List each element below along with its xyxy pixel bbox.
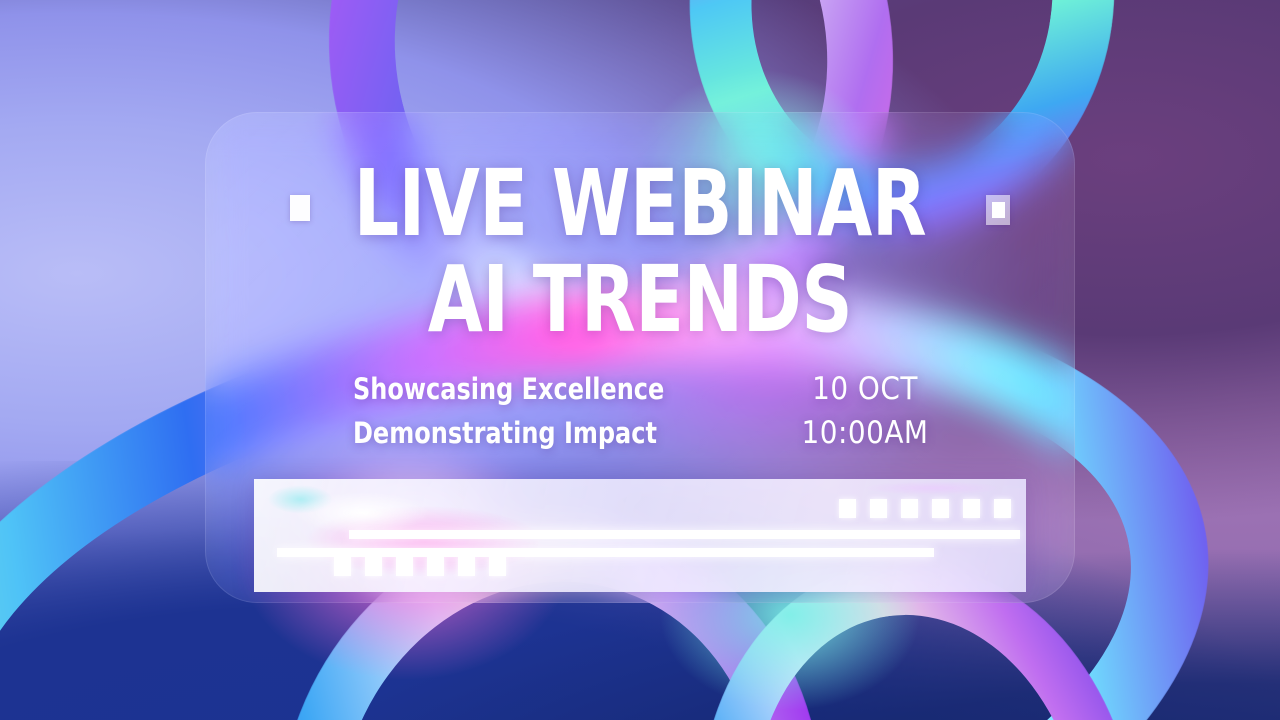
event-time: 10:00AM — [780, 411, 950, 455]
panel-dot — [963, 499, 980, 518]
headline-line-1: LIVE WEBINAR — [266, 158, 1014, 250]
panel-bar-lower — [277, 548, 934, 557]
headline-line-2: AI TRENDS — [266, 254, 1014, 346]
schedule-block: 10 OCT 10:00AM — [780, 367, 950, 455]
panel-dot — [870, 499, 887, 518]
subtitle-line-2: Demonstrating Impact — [353, 411, 664, 455]
glass-card: LIVE WEBINAR AI TRENDS Showcasing Excell… — [205, 112, 1075, 603]
panel-dot — [458, 557, 475, 576]
panel-dot — [427, 557, 444, 576]
panel-dot — [932, 499, 949, 518]
poster-canvas: LIVE WEBINAR AI TRENDS Showcasing Excell… — [0, 0, 1280, 720]
panel-dot — [365, 557, 382, 576]
panel-dot — [396, 557, 413, 576]
panel-dot — [839, 499, 856, 518]
info-panel — [254, 479, 1026, 592]
subtitle-line-1: Showcasing Excellence — [353, 367, 664, 411]
panel-dot — [994, 499, 1011, 518]
panel-dot — [334, 557, 351, 576]
panel-dots-top — [839, 499, 1025, 518]
panel-dot — [901, 499, 918, 518]
panel-bar-upper — [349, 530, 1020, 539]
panel-dot — [489, 557, 506, 576]
event-date: 10 OCT — [780, 367, 950, 411]
subtitle-block: Showcasing Excellence Demonstrating Impa… — [353, 367, 691, 455]
panel-dots-bottom — [334, 557, 520, 576]
glass-card-content: LIVE WEBINAR AI TRENDS Showcasing Excell… — [205, 112, 1075, 603]
